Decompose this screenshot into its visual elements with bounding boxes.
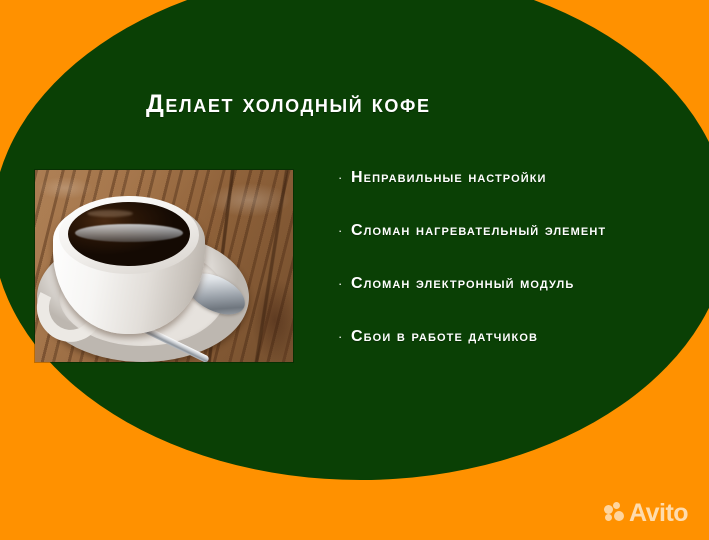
bullet-marker-icon: · [338, 277, 351, 290]
avito-brand-label: Avito [629, 501, 688, 526]
bullet-marker-icon: · [338, 224, 351, 237]
list-item-label: Неправильные настройки [351, 169, 547, 187]
list-item-label: Сломан электронный модуль [351, 275, 574, 293]
bullet-list: · Неправильные настройки · Сломан нагрев… [338, 169, 606, 381]
list-item-label: Сбои в работе датчиков [351, 328, 538, 346]
list-item: · Неправильные настройки [338, 169, 606, 222]
slide-canvas: Делает холодный кофе · Неправильные наст… [0, 0, 709, 540]
list-item: · Сломан электронный модуль [338, 275, 606, 328]
coffee-cup-photo [35, 170, 293, 362]
list-item: · Сбои в работе датчиков [338, 328, 606, 381]
page-title: Делает холодный кофе [146, 90, 431, 119]
avito-dots-icon [604, 502, 626, 524]
bullet-marker-icon: · [338, 330, 351, 343]
coffee-reflection-shape [75, 224, 183, 242]
coffee-highlight-shape [87, 210, 133, 217]
bullet-marker-icon: · [338, 171, 351, 184]
list-item: · Сломан нагревательный элемент [338, 222, 606, 275]
list-item-label: Сломан нагревательный элемент [351, 222, 606, 240]
avito-watermark: Avito [604, 498, 688, 528]
